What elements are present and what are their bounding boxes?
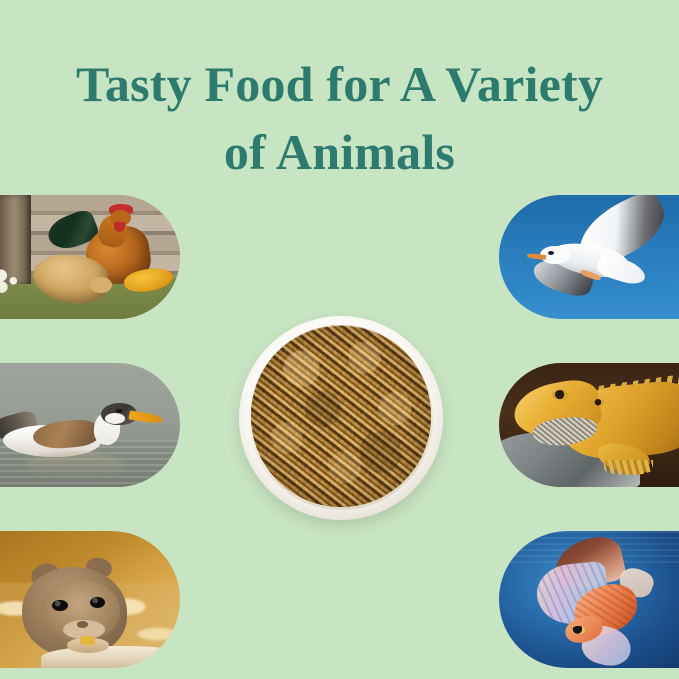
seagull-beak	[527, 253, 546, 260]
food-seed	[80, 636, 95, 644]
seagull-photo-scene	[499, 195, 679, 319]
animal-photo-bearded-dragon	[499, 363, 679, 487]
betta-eye	[572, 626, 584, 634]
hamster-eye-left	[52, 600, 68, 612]
title-line-1: Tasty Food for A Variety	[0, 50, 679, 118]
dragon-claws	[604, 460, 653, 475]
dragon-eye-secondary	[593, 399, 604, 406]
duck-cheek	[105, 413, 126, 424]
seagull-eye	[548, 251, 554, 255]
feeding-dish	[41, 646, 180, 668]
animal-photo-seagull	[499, 195, 679, 319]
dried-mealworms-pile	[251, 325, 431, 507]
page-title: Tasty Food for A Variety of Animals	[0, 50, 679, 186]
dragon-eye	[552, 390, 569, 400]
bearded-dragon-photo-scene	[499, 363, 679, 487]
animal-photo-chickens	[0, 195, 180, 319]
hen-head	[90, 277, 113, 293]
title-line-2: of Animals	[0, 118, 679, 186]
duck-water-reflection	[26, 452, 124, 479]
seagull-tail	[594, 252, 647, 288]
animal-photo-duck	[0, 363, 180, 487]
hamster-eye-right	[90, 597, 105, 608]
mushrooms	[0, 266, 33, 293]
duck-eye	[116, 409, 122, 413]
duck-photo-scene	[0, 363, 180, 487]
betta-photo-scene	[499, 531, 679, 668]
mealworm-bowl	[239, 316, 443, 520]
hamster-photo-scene	[0, 531, 180, 668]
chicken-photo-scene	[0, 195, 180, 319]
product-marketing-poster: Tasty Food for A Variety of Animals	[0, 0, 679, 679]
animal-photo-hamster	[0, 531, 180, 668]
duck-bill	[129, 410, 164, 424]
hamster-nose	[77, 621, 88, 627]
animal-photo-betta-fish	[499, 531, 679, 668]
